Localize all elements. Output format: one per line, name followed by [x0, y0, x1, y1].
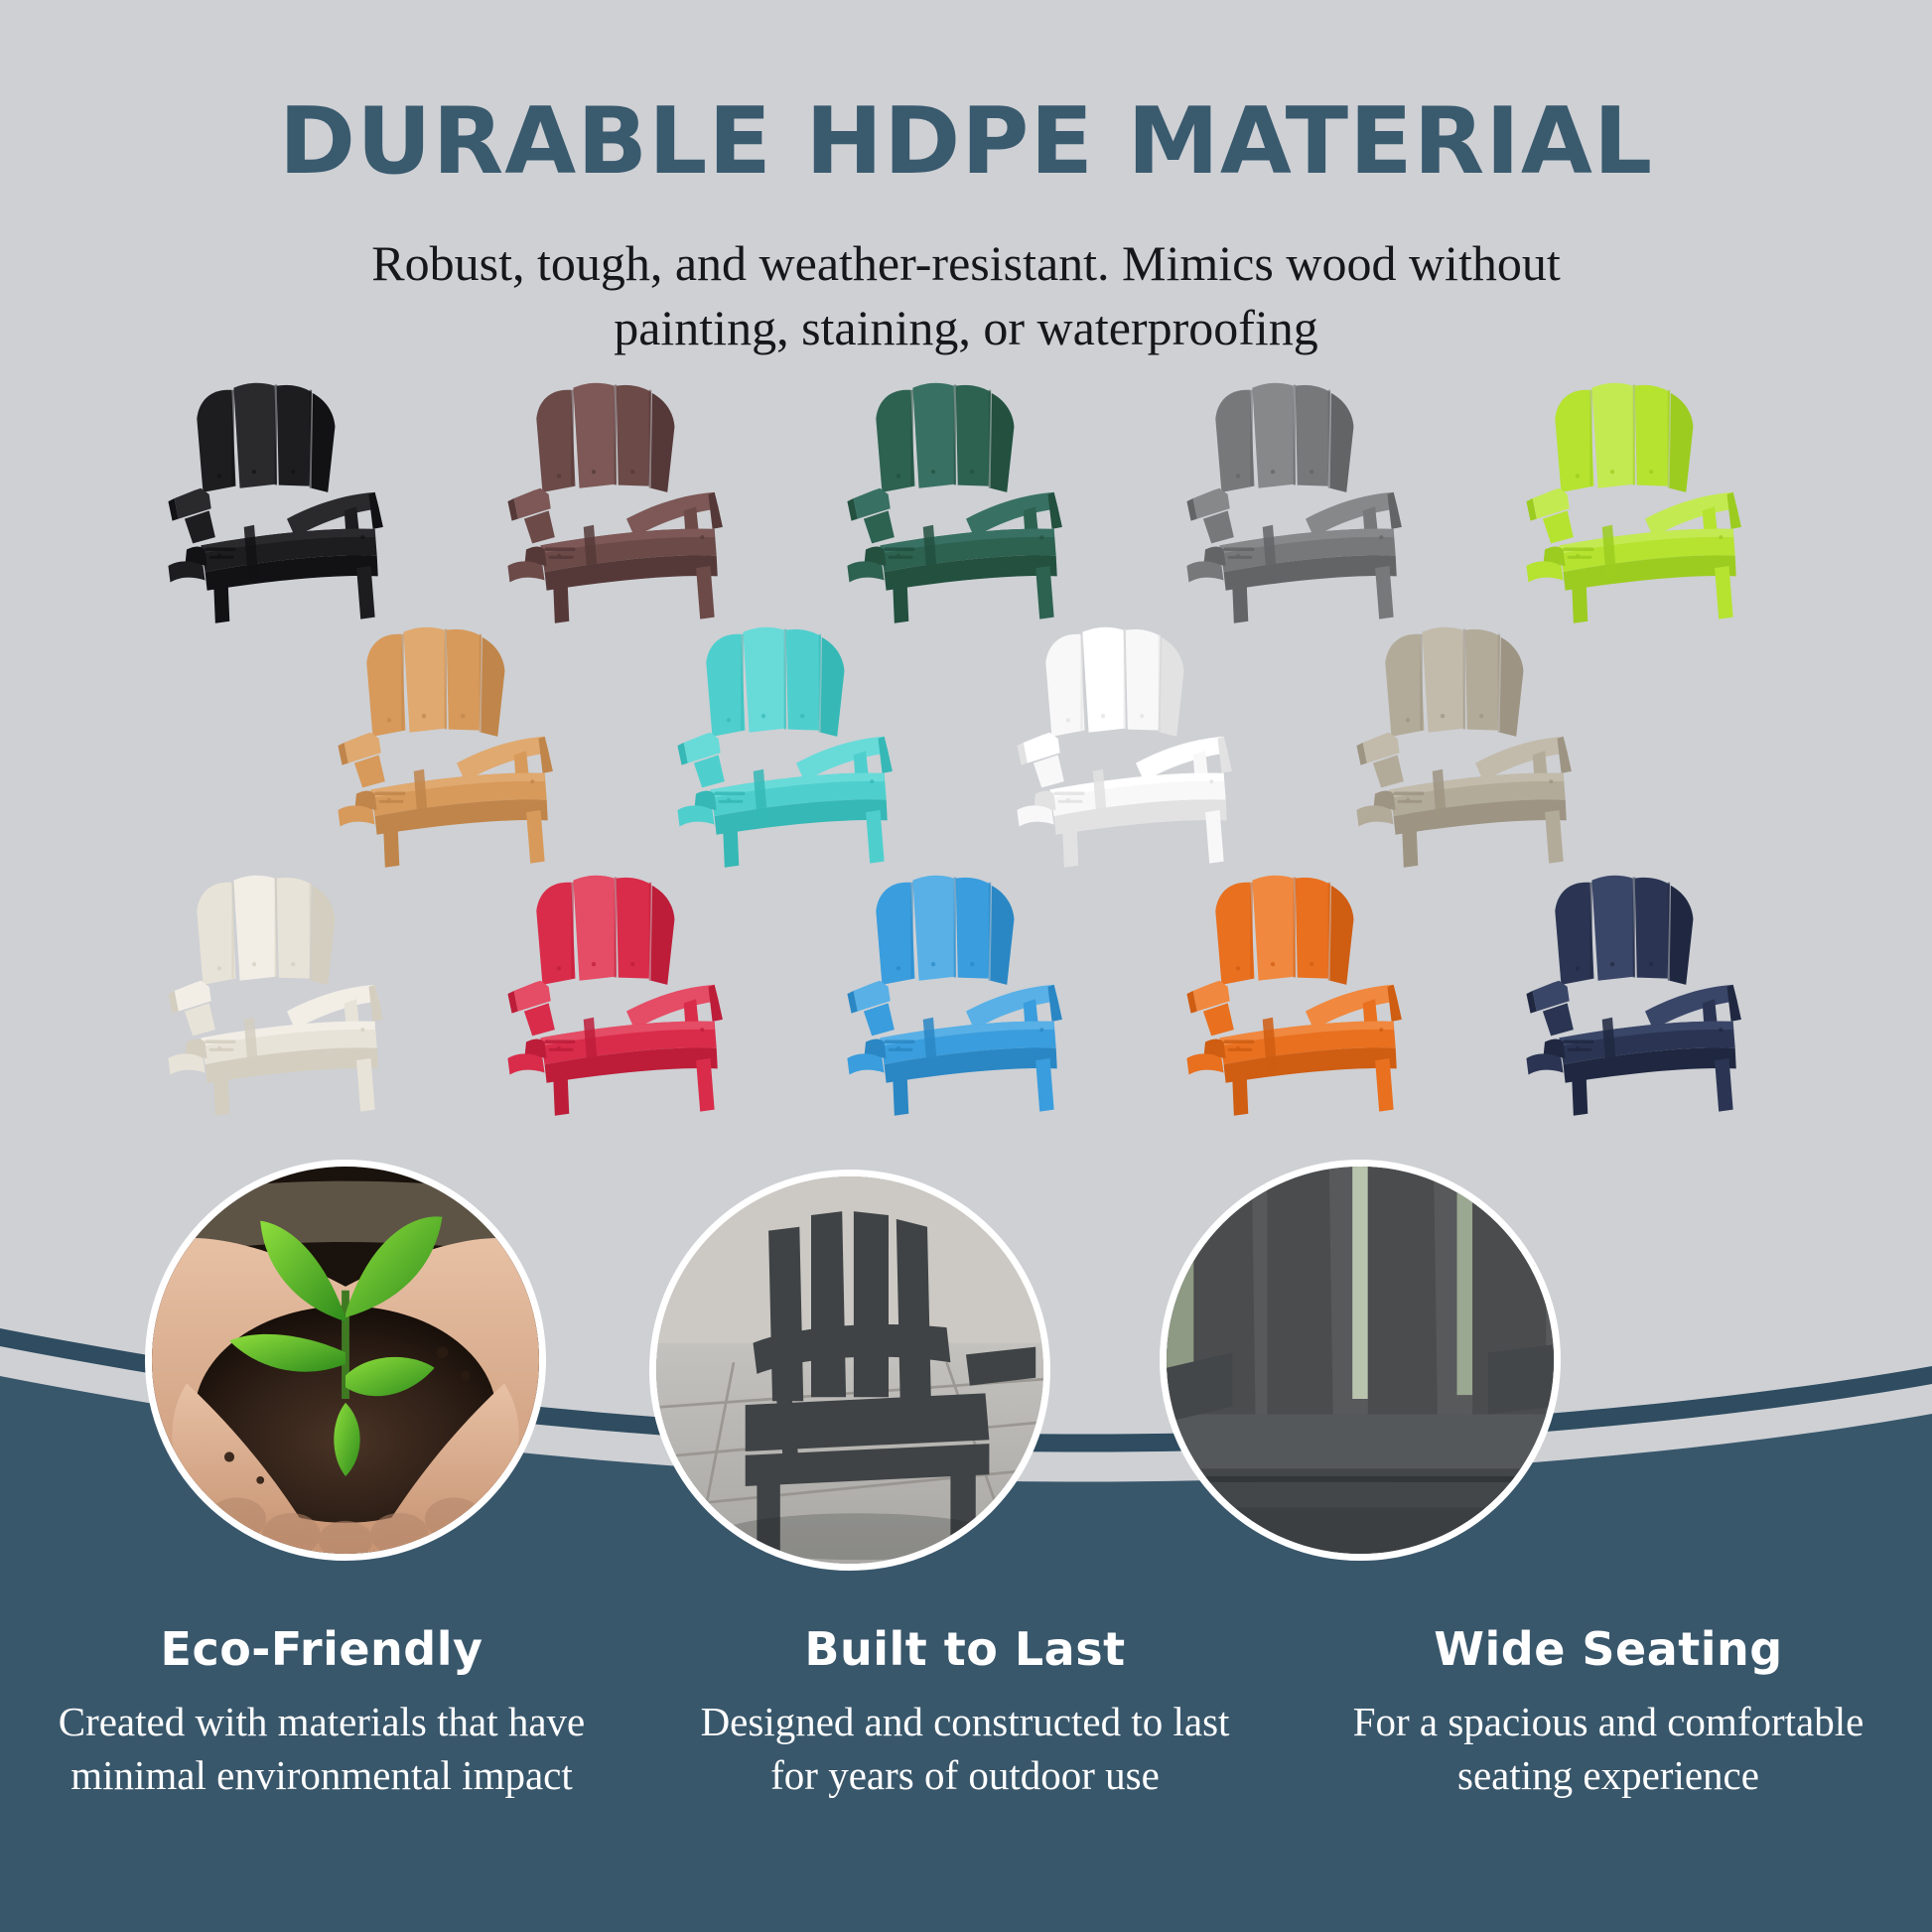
chair-swatch-orange[interactable] [1148, 858, 1463, 1124]
chair-back-fan [1215, 876, 1353, 985]
chair-back-fan [1555, 383, 1693, 492]
chair-back-fan [536, 383, 674, 492]
chair-left-arm [1356, 733, 1403, 788]
feature-captions: Eco-Friendly Created with materials that… [0, 1624, 1932, 1802]
chair-illustration [1487, 858, 1803, 1124]
chair-back-fan [197, 383, 335, 492]
chair-front-stretcher [1017, 790, 1055, 826]
chair-back-fan [197, 876, 335, 985]
chair-illustration [638, 610, 954, 876]
chair-illustration [299, 610, 615, 876]
feature-title: Eco-Friendly [0, 1624, 643, 1675]
chair-left-arm [168, 488, 214, 544]
chair-front-stretcher [338, 790, 376, 826]
feature-image-wide-seating [1160, 1160, 1561, 1561]
chair-back-fan [876, 383, 1014, 492]
chair-illustration [978, 610, 1294, 876]
chair-illustration [1148, 858, 1463, 1124]
feature-body: Designed and constructed to last for yea… [643, 1695, 1287, 1802]
chair-swatch-blue[interactable] [808, 858, 1124, 1124]
feature-title: Built to Last [643, 1624, 1287, 1675]
chair-illustration [469, 858, 784, 1124]
chair-front-stretcher [507, 546, 546, 582]
chair-row-1 [0, 365, 1932, 631]
chair-front-stretcher [168, 546, 207, 582]
chair-front-stretcher [168, 1038, 207, 1074]
chair-back-fan [1555, 876, 1693, 985]
chair-front-stretcher [1526, 1038, 1565, 1074]
chair-swatch-brown[interactable] [469, 365, 784, 631]
chair-swatch-navy-blue[interactable] [1487, 858, 1803, 1124]
chair-illustration [808, 365, 1124, 631]
chair-illustration [1148, 365, 1463, 631]
infographic-canvas: DURABLE HDPE MATERIAL Robust, tough, and… [0, 0, 1932, 1932]
chair-left-arm [507, 488, 554, 544]
chair-swatch-gray[interactable] [1148, 365, 1463, 631]
chair-swatch-dark-green[interactable] [808, 365, 1124, 631]
chair-left-arm [507, 981, 554, 1036]
feature-caption-eco-friendly: Eco-Friendly Created with materials that… [0, 1624, 643, 1802]
chair-back-fan [1045, 627, 1183, 737]
chair-front-stretcher [1356, 790, 1395, 826]
feature-image-eco-friendly [145, 1160, 546, 1561]
chair-illustration [129, 365, 445, 631]
chair-left-arm [1186, 488, 1233, 544]
chair-swatch-lime-green[interactable] [1487, 365, 1803, 631]
chair-front-stretcher [1186, 1038, 1225, 1074]
feature-title: Wide Seating [1287, 1624, 1930, 1675]
chair-swatch-turquoise[interactable] [638, 610, 954, 876]
chair-swatch-teak[interactable] [299, 610, 615, 876]
feature-image-built-to-last [649, 1170, 1050, 1571]
chair-swatch-beige[interactable] [1317, 610, 1633, 876]
chair-back-fan [536, 876, 674, 985]
feature-caption-wide-seating: Wide Seating For a spacious and comforta… [1287, 1624, 1930, 1802]
chair-left-arm [168, 981, 214, 1036]
chair-left-arm [677, 733, 724, 788]
chair-illustration [469, 365, 784, 631]
header-block: DURABLE HDPE MATERIAL Robust, tough, and… [0, 0, 1932, 360]
chair-illustration [1487, 365, 1803, 631]
chair-illustration [129, 858, 445, 1124]
chair-swatch-red[interactable] [469, 858, 784, 1124]
chair-left-arm [1526, 488, 1573, 544]
chair-front-stretcher [1186, 546, 1225, 582]
chair-front-stretcher [507, 1038, 546, 1074]
chair-back-fan [366, 627, 504, 737]
chair-color-grid [0, 365, 1932, 1124]
chair-front-stretcher [847, 1038, 886, 1074]
chair-illustration [808, 858, 1124, 1124]
chair-back-fan [876, 876, 1014, 985]
page-title: DURABLE HDPE MATERIAL [0, 95, 1932, 188]
chair-illustration [1317, 610, 1633, 876]
chair-left-arm [847, 488, 894, 544]
chair-back-fan [1215, 383, 1353, 492]
chair-left-arm [1526, 981, 1573, 1036]
feature-caption-built-to-last: Built to Last Designed and constructed t… [643, 1624, 1287, 1802]
chair-row-3 [0, 858, 1932, 1124]
chair-front-stretcher [847, 546, 886, 582]
chair-swatch-black[interactable] [129, 365, 445, 631]
chair-left-arm [338, 733, 384, 788]
chair-swatch-white[interactable] [978, 610, 1294, 876]
chair-back-fan [706, 627, 844, 737]
chair-left-arm [1186, 981, 1233, 1036]
feature-body: Created with materials that have minimal… [0, 1695, 643, 1802]
feature-image-row [0, 1160, 1932, 1676]
page-subtitle: Robust, tough, and weather-resistant. Mi… [291, 231, 1641, 360]
chair-front-stretcher [677, 790, 716, 826]
feature-body: For a spacious and comfortable seating e… [1287, 1695, 1930, 1802]
chair-swatch-ivory[interactable] [129, 858, 445, 1124]
chair-left-arm [847, 981, 894, 1036]
chair-back-fan [1385, 627, 1523, 737]
chair-row-2 [0, 610, 1932, 876]
chair-front-stretcher [1526, 546, 1565, 582]
chair-left-arm [1017, 733, 1063, 788]
